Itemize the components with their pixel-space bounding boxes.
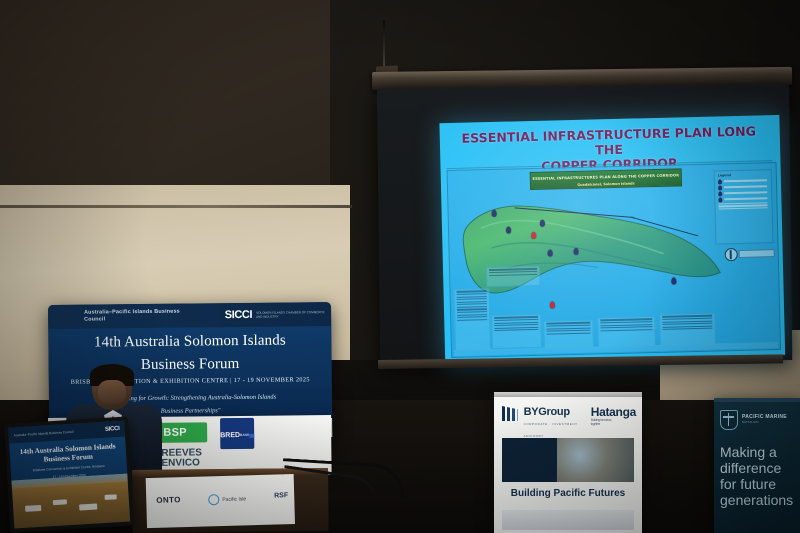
bred-logo-text: BRED bbox=[220, 431, 240, 438]
reeves-envico-text: REEVES ENVICO bbox=[161, 448, 202, 468]
map-pin bbox=[574, 248, 579, 255]
truck-shape bbox=[105, 494, 117, 500]
projected-slide: ESSENTIAL INFRASTRUCTURE PLAN LONG THE C… bbox=[439, 115, 785, 363]
monitor-sicci-text: SICCI bbox=[105, 426, 120, 433]
conference-room-photo: ESSENTIAL INFRASTRUCTURE PLAN LONG THE C… bbox=[0, 0, 800, 533]
podium-logo-pacific: Pacific Isle bbox=[208, 493, 246, 505]
confidence-monitor: Australia–Pacific Islands Business Counc… bbox=[4, 416, 134, 532]
slogan-line1: Making a bbox=[720, 444, 798, 460]
bsp-logo-text: BSP bbox=[163, 427, 187, 439]
truck-shape bbox=[53, 499, 67, 505]
monitor-apibc-text: Australia–Pacific Islands Business Counc… bbox=[14, 430, 74, 438]
banner-logo-row: BYGroup CORPORATE · INVESTMENT · ADVISOR… bbox=[502, 406, 636, 442]
legend-pin-icon bbox=[718, 185, 722, 190]
reeves-line2: ENVICO bbox=[161, 457, 199, 468]
map-note-block bbox=[659, 313, 716, 346]
legend-pin-icon bbox=[718, 197, 722, 202]
legend-pin-icon bbox=[718, 179, 722, 184]
banner-rock-texture bbox=[557, 438, 634, 482]
projection-screen: ESSENTIAL INFRASTRUCTURE PLAN LONG THE C… bbox=[372, 72, 800, 382]
slogan-line4: generations bbox=[720, 492, 798, 508]
compass-rose-icon bbox=[725, 248, 738, 261]
slogan-line3: for future bbox=[720, 476, 798, 492]
banner-org-strip: Australia–Pacific Islands Business Counc… bbox=[48, 302, 331, 329]
pacific-marine-slogan: Making a difference for future generatio… bbox=[720, 444, 798, 508]
speaker-podium: ONTO Pacific Isle RSF bbox=[132, 468, 329, 533]
sicci-subtext: SOLOMON ISLANDS CHAMBER OF COMMERCE AND … bbox=[256, 310, 331, 319]
globe-icon bbox=[208, 494, 219, 505]
pacific-marine-logo-text: PACIFIC MARINE BATTALION bbox=[742, 414, 787, 426]
bygroup-brand: BYGroup bbox=[524, 406, 570, 418]
screen-surface: ESSENTIAL INFRASTRUCTURE PLAN LONG THE C… bbox=[377, 84, 792, 365]
map-pin bbox=[506, 227, 511, 234]
sicci-mark: SICCI bbox=[225, 309, 252, 321]
slogan-line2: difference bbox=[720, 460, 798, 476]
banner-lower-panel bbox=[502, 510, 634, 530]
map-legend: Legend bbox=[714, 169, 774, 244]
guadalcanal-island-map bbox=[456, 182, 729, 319]
bygroup-logo-text: BYGroup CORPORATE · INVESTMENT · ADVISOR… bbox=[524, 406, 585, 442]
bygroup-hatanga-banner: BYGroup CORPORATE · INVESTMENT · ADVISOR… bbox=[494, 392, 642, 533]
hatanga-sub-line2: together bbox=[591, 422, 636, 426]
map-note-block bbox=[453, 288, 491, 351]
monitor-photo-mine-site bbox=[11, 474, 130, 529]
podium-logo-pacific-text: Pacific Isle bbox=[222, 496, 246, 503]
bred-bank-logo: BRED BANK bbox=[220, 418, 254, 449]
podium-logo-onto: ONTO bbox=[156, 495, 181, 505]
banner-top-rail bbox=[714, 398, 800, 402]
truck-shape bbox=[25, 505, 41, 512]
sicci-logo: SICCI SOLOMON ISLANDS CHAMBER OF COMMERC… bbox=[225, 308, 331, 321]
crest-icon bbox=[720, 410, 738, 430]
pacific-marine-banner: PACIFIC MARINE BATTALION Making a differ… bbox=[714, 398, 800, 533]
legend-pin-icon bbox=[718, 191, 722, 196]
podium-logo-rsf: RSF bbox=[274, 492, 288, 499]
map-scale-bar bbox=[739, 249, 775, 258]
map-note-block bbox=[491, 314, 542, 349]
map-pin-highlight bbox=[531, 232, 536, 239]
wall-seam-line bbox=[0, 205, 352, 208]
pacific-marine-sub: BATTALION bbox=[742, 420, 787, 426]
pacific-marine-logo: PACIFIC MARINE BATTALION bbox=[720, 410, 787, 430]
banner-title-line1: 14th Australia Solomon Islands bbox=[48, 326, 331, 352]
map-pin bbox=[540, 220, 545, 227]
apibc-logo-text: Australia–Pacific Islands Business Counc… bbox=[84, 309, 187, 324]
map-note-block bbox=[543, 320, 594, 349]
bygroup-mark-icon bbox=[502, 406, 518, 421]
map-note-block bbox=[486, 266, 540, 287]
banner-hero-image bbox=[502, 438, 634, 482]
map-pin bbox=[492, 210, 497, 217]
banner-top-rail bbox=[494, 392, 642, 397]
map-note-block bbox=[597, 316, 656, 347]
map-pin-highlight bbox=[550, 301, 555, 308]
truck-shape bbox=[79, 503, 97, 510]
map-pin bbox=[548, 250, 553, 257]
map-pin bbox=[671, 277, 676, 284]
banner-tagline: Building Pacific Futures bbox=[494, 488, 642, 499]
map-poster: ESSENTIAL INFRASTRUCTURES PLAN ALONG THE… bbox=[447, 162, 781, 358]
monitor-screen: Australia–Pacific Islands Business Counc… bbox=[8, 421, 130, 529]
podium-signage-panel: ONTO Pacific Isle RSF bbox=[146, 474, 295, 528]
hatanga-logo-text: Hatanga Building tomorrow, together bbox=[591, 406, 636, 426]
bred-logo-sub: BANK bbox=[240, 431, 249, 438]
presenter-face bbox=[98, 380, 126, 404]
hatanga-brand: Hatanga bbox=[591, 405, 636, 419]
